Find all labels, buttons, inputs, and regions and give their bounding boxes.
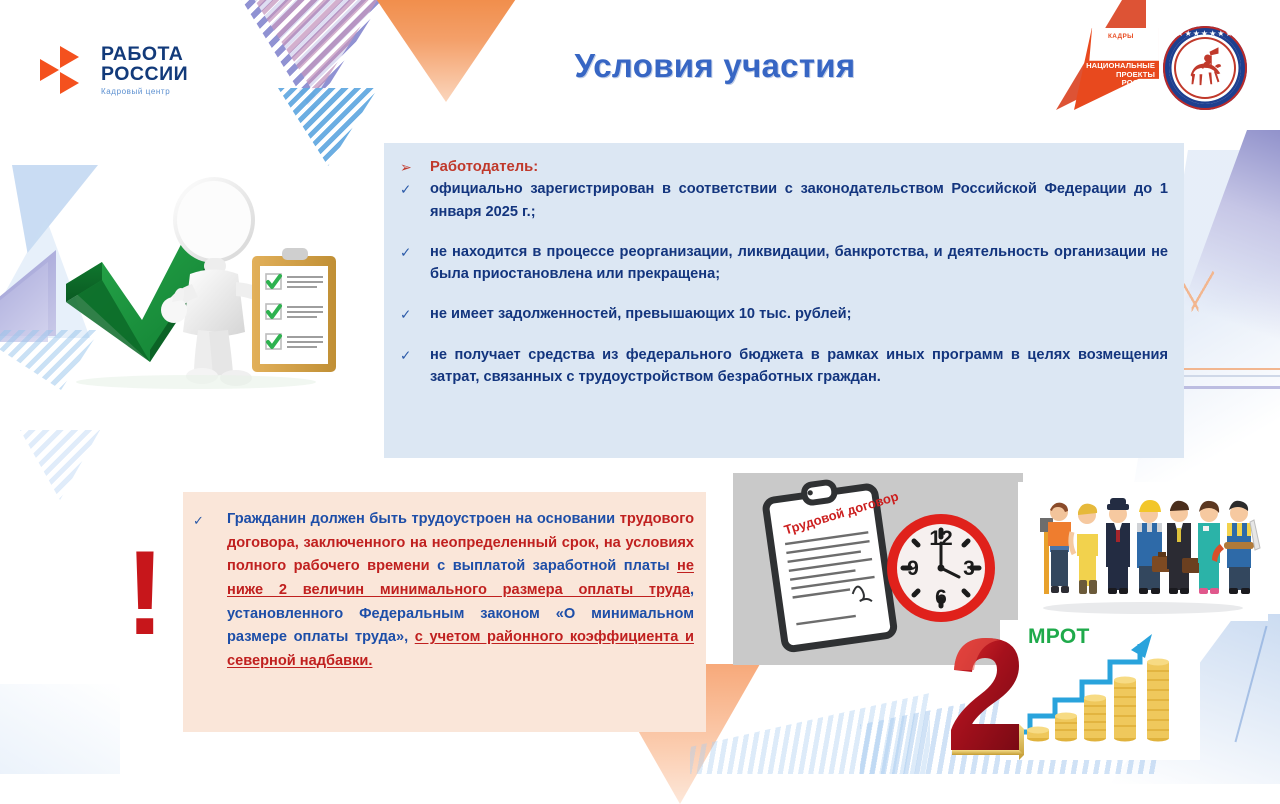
emblem-rider-icon <box>1178 41 1232 95</box>
employer-conditions-box: ➢ Работодатель: ✓ официально зарегистрир… <box>384 143 1184 458</box>
decor-triangle-orange-top <box>370 0 522 102</box>
decor-striped-triangle-blue <box>278 88 378 166</box>
red-clock-icon: 12 3 6 9 <box>887 514 995 622</box>
employer-item-2: ✓ не находится в процессе реорганизации,… <box>400 241 1168 285</box>
svg-text:6: 6 <box>935 586 947 609</box>
decor-purple-shape-right <box>1170 130 1280 340</box>
worker-pilot <box>1106 498 1130 594</box>
check-bullet-icon: ✓ <box>400 344 430 367</box>
employer-item-3-text: не имеет задолженностей, превышающих 10 … <box>430 303 1168 325</box>
employer-item-4-text: не получает средства из федерального бюд… <box>430 344 1168 388</box>
yakutia-coat-of-arms-icon: ★★★★★★★ <box>1163 26 1247 110</box>
decor-stripes-bottom-center <box>690 684 930 774</box>
employer-heading-label: Работодатель: <box>430 156 1168 178</box>
citizen-row: ✓ Гражданин должен быть трудоустроен на … <box>193 508 694 673</box>
check-bullet-icon: ✓ <box>400 178 430 201</box>
svg-text:9: 9 <box>907 557 919 580</box>
decor-thin-line-bottom-right <box>1235 626 1268 742</box>
employer-item-1-text: официально зарегистрирован в соответстви… <box>430 178 1168 222</box>
national-projects-kadry-label: КАДРЫ <box>1108 33 1134 40</box>
national-projects-text: НАЦИОНАЛЬНЫЕ ПРОЕКТЫ РОССИИ <box>1079 62 1155 88</box>
np-line-3: РОССИИ <box>1079 79 1155 88</box>
illustration-3d-figure-checkmark <box>46 162 356 390</box>
check-bullet-icon: ✓ <box>193 508 227 531</box>
citizen-conditions-box: ✓ Гражданин должен быть трудоустроен на … <box>183 492 706 732</box>
logo-line-1: РАБОТА <box>101 45 188 65</box>
mrot-label: МРОТ <box>1028 625 1090 649</box>
decor-triangle-purple-left-2 <box>0 262 48 342</box>
page-title: Условия участия <box>525 47 905 85</box>
illustration-big-number-two <box>944 634 1034 762</box>
national-projects-logo: КАДРЫ НАЦИОНАЛЬНЫЕ ПРОЕКТЫ РОССИИ <box>1074 28 1159 110</box>
decor-pale-bottom-left <box>0 684 120 774</box>
three-triangles-icon <box>40 47 90 93</box>
employer-heading-row: ➢ Работодатель: <box>400 156 1168 178</box>
citizen-seg-1: Гражданин должен быть трудоустроен на ос… <box>227 511 620 527</box>
logo-line-2: РОССИИ <box>101 65 188 85</box>
exclamation-mark-icon: ! <box>125 545 165 641</box>
decor-striped-triangle-pink <box>252 0 380 96</box>
logo-subtitle: Кадровый центр <box>101 88 188 96</box>
employer-item-4: ✓ не получает средства из федерального б… <box>400 344 1168 388</box>
employer-item-3: ✓ не имеет задолженностей, превышающих 1… <box>400 303 1168 326</box>
decor-stripes-left-mid <box>20 430 100 500</box>
svg-text:3: 3 <box>963 557 975 580</box>
citizen-seg-3: с выплатой заработной платы <box>430 558 677 574</box>
illustration-workers-group <box>1018 482 1268 621</box>
check-bullet-icon: ✓ <box>400 303 430 326</box>
rabota-rossii-logo: РАБОТА РОССИИ Кадровый центр <box>40 45 188 96</box>
citizen-text: Гражданин должен быть трудоустроен на ос… <box>227 508 694 673</box>
decor-striped-triangle-purple <box>238 0 386 112</box>
clipboard-with-checkmarks <box>252 248 336 372</box>
employer-item-1: ✓ официально зарегистрирован в соответст… <box>400 178 1168 222</box>
page-title-wrapper: Условия участия <box>525 47 905 85</box>
check-bullet-icon: ✓ <box>400 241 430 264</box>
emblem-stars: ★★★★★★★ <box>1163 29 1247 38</box>
arrow-bullet-icon: ➢ <box>400 156 430 178</box>
employer-item-2-text: не находится в процессе реорганизации, л… <box>430 241 1168 285</box>
